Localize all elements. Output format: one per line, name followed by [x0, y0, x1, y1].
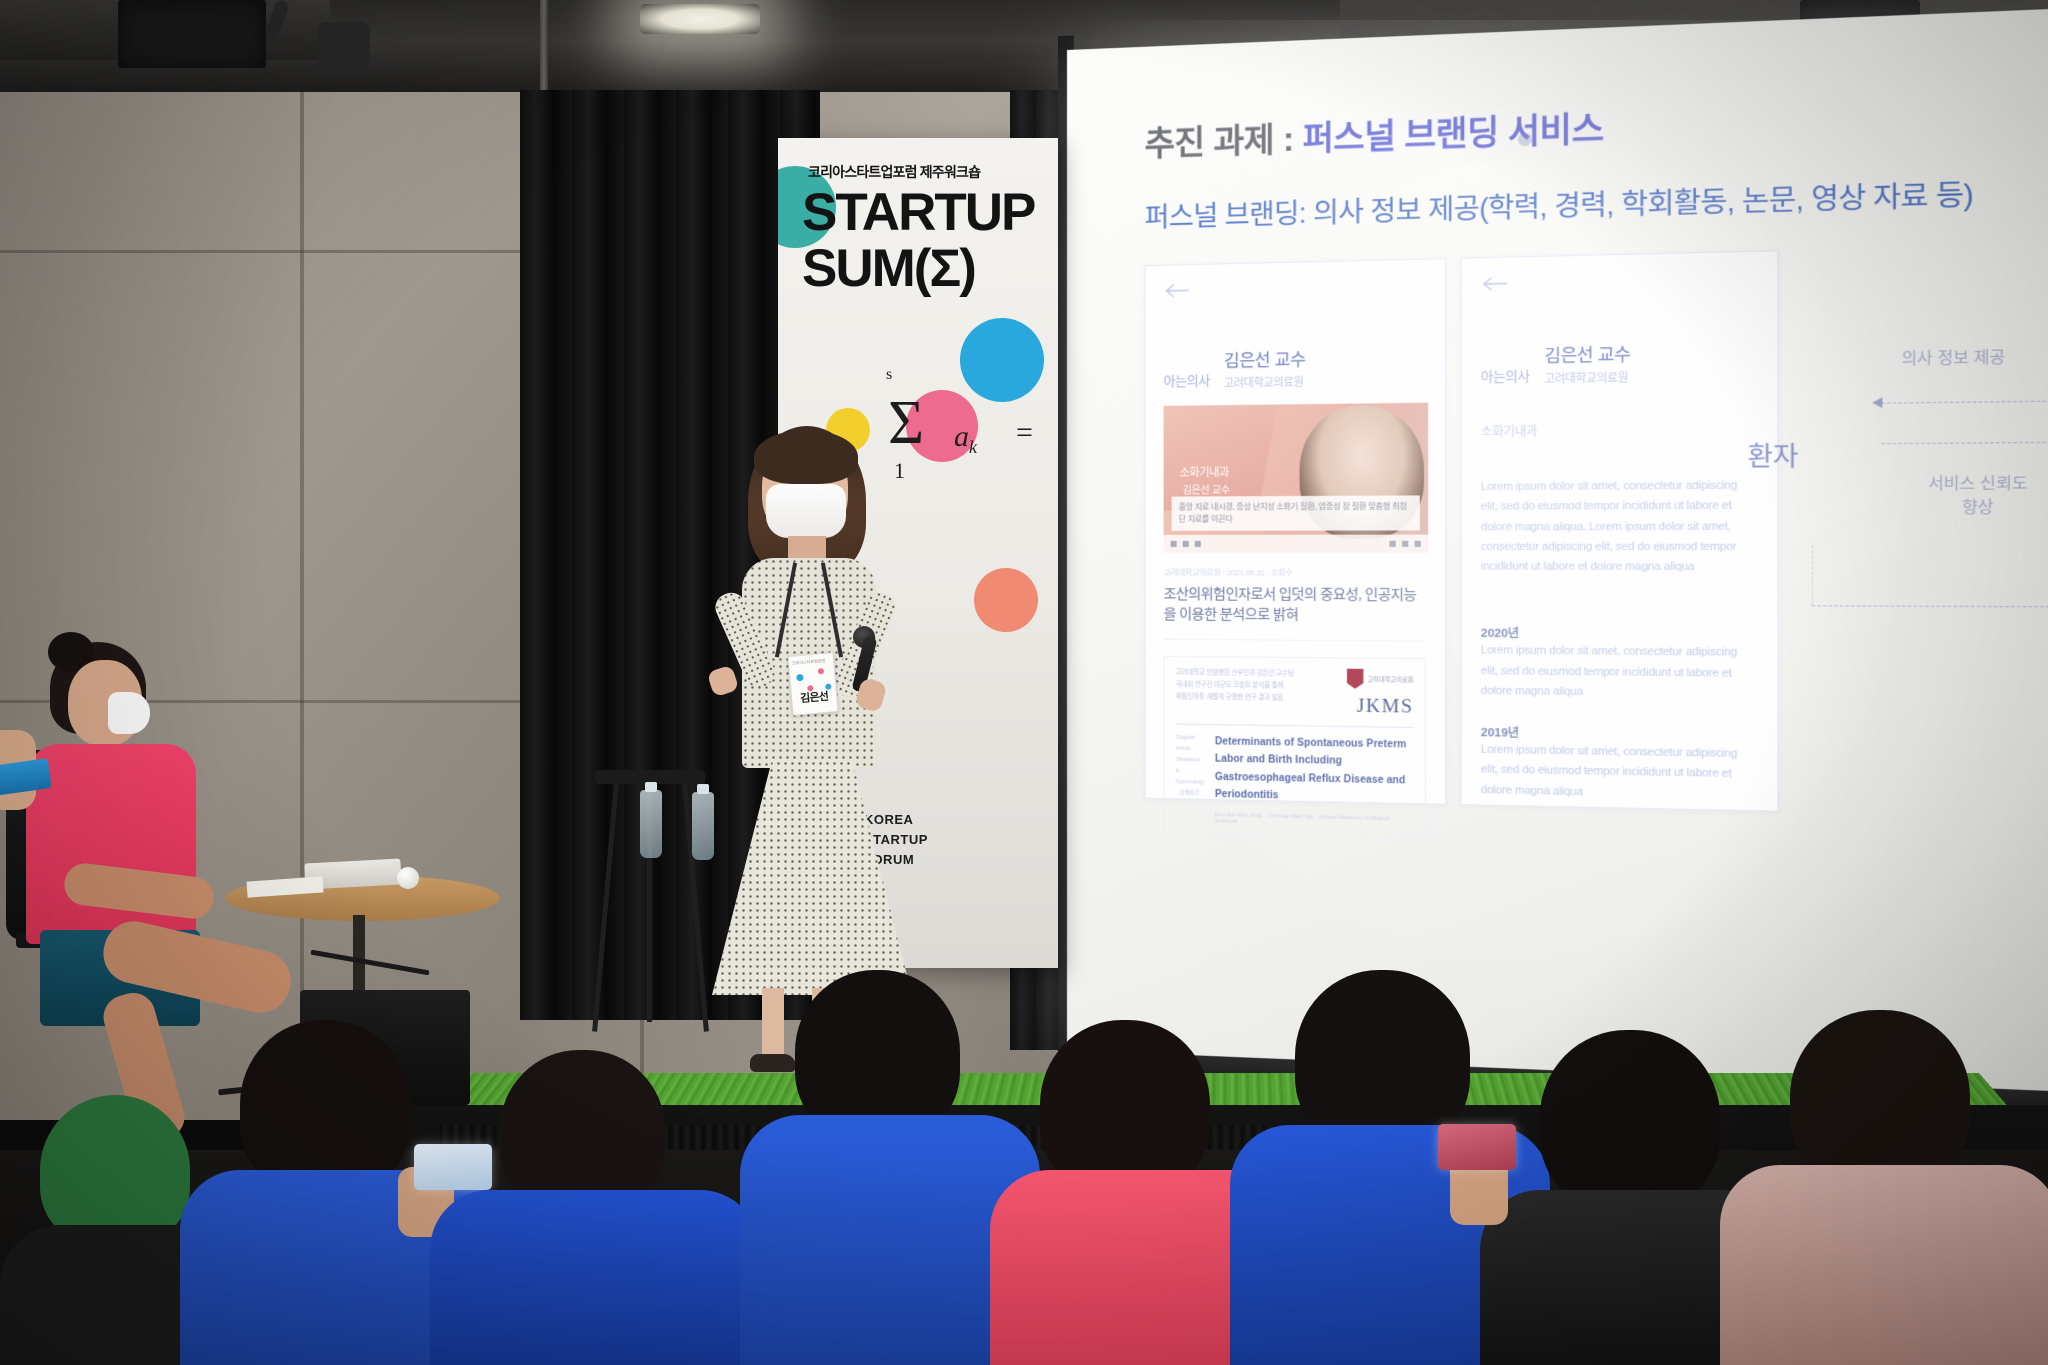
video-thumbnail[interactable]: 소화기내과 김은선교수 중앙 지료 내시경, 증상 난치성 소화기 질환, 염증… [1164, 403, 1429, 553]
banner-blob-blue [960, 318, 1044, 402]
info-block-text: Lorem ipsum dolor sit amet, consectetur … [1481, 476, 1758, 578]
divider [1176, 723, 1414, 727]
doctor-affiliation: 고려대학교의료원 [1224, 374, 1306, 391]
crest-label: 고려대학교의료원 [1368, 677, 1414, 684]
play-icon[interactable] [1171, 541, 1177, 547]
paper-korean-line: 위험인자를 새롭게 규명한 연구 결과 발표 [1176, 691, 1294, 705]
badge-header: 코리아스타트업포럼 [792, 658, 826, 667]
skirt [712, 760, 912, 995]
university-crest-icon [1347, 668, 1364, 689]
slide-title: 추진 과제 : 퍼스널 브랜딩 서비스 [1145, 83, 2048, 165]
ceiling-pipe [540, 0, 548, 92]
volume-icon[interactable] [1195, 541, 1201, 547]
back-arrow-icon [1481, 274, 1509, 293]
thumb-dept-label: 소화기내과 [1180, 464, 1229, 480]
photo-scene: 추진 과제 : 퍼스널 브랜딩 서비스 퍼스널 브랜딩: 의사 정보 제공(학력… [0, 0, 2048, 1365]
slide-content: 추진 과제 : 퍼스널 브랜딩 서비스 퍼스널 브랜딩: 의사 정보 제공(학력… [1067, 5, 2048, 1095]
info-block: 2020년 Lorem ipsum dolor sit amet, consec… [1481, 625, 1758, 705]
paper-sidebar-line: Obstetrics & Gynecology [1176, 754, 1205, 788]
phone-screen [1438, 1124, 1516, 1170]
settings-icon[interactable] [1390, 541, 1396, 547]
paper-header: 고려대학교 안암병원 산부인과 김은선 교수팀 국내외 연구진 대규모 코호트 … [1176, 667, 1414, 719]
formula-subscript: k [969, 437, 977, 457]
ceiling-light [640, 4, 760, 34]
foreground-audience-member [430, 1065, 760, 1365]
info-block-label: 2020년 [1481, 625, 1758, 644]
divider [1164, 638, 1427, 641]
projection-screen: 추진 과제 : 퍼스널 브랜딩 서비스 퍼스널 브랜딩: 의사 정보 제공(학력… [1067, 5, 2048, 1095]
thumb-name-suffix: 교수 [1212, 485, 1230, 496]
formula-superscript: s [886, 366, 892, 384]
card-header: 아는의사 김은선 교수 고려대학교의료원 [1164, 343, 1427, 392]
paper-sidebar: Original Article Obstetrics & Gynecology… [1176, 732, 1205, 823]
stool-leg [592, 782, 619, 1031]
journal-brand: 고려대학교의료원 JKMS [1347, 668, 1414, 718]
badge-name: 김은선 [792, 687, 837, 707]
paper-korean-line: 국내외 연구진 대규모 코호트 분석을 통해 [1176, 679, 1294, 692]
diagram-arrow-left [1881, 400, 2048, 404]
left-hand [707, 665, 740, 698]
info-block: Lorem ipsum dolor sit amet, consectetur … [1481, 476, 1758, 578]
info-block: 2019년 Lorem ipsum dolor sit amet, consec… [1481, 724, 1758, 806]
paper-authors: Eun Sun Kim, et al. · J Korean Med Sci. … [1215, 812, 1414, 829]
thumb-name-text: 김은선 [1183, 485, 1209, 496]
face-mask [766, 484, 846, 538]
banner-blob-coral [974, 568, 1038, 632]
slide-title-accent: 퍼스널 브랜딩 서비스 [1294, 109, 1604, 158]
info-block-text: Lorem ipsum dolor sit amet, consectetur … [1481, 641, 1758, 704]
banner-eyebrow: 코리아스타트업포럼 제주워크숍 [808, 162, 980, 182]
bottle-cap [645, 782, 657, 792]
playback-controls[interactable] [1171, 541, 1201, 547]
hair-front [754, 430, 858, 484]
paper-body: Original Article Obstetrics & Gynecology… [1176, 732, 1414, 828]
card-header: 아는의사 김은선 교수 고려대학교의료원 [1481, 337, 1758, 387]
news-meta: 고려대학교의료원 · 2021.05.31 · 조회수 [1164, 567, 1427, 579]
diagram-node-patient: 환자 [1748, 435, 1799, 474]
paper-sidebar-line: · 검색하기 [1176, 788, 1205, 800]
head [1540, 1030, 1720, 1210]
head [1790, 1010, 1970, 1190]
badge-dot [818, 668, 825, 675]
cap [40, 1095, 190, 1245]
torso [1720, 1165, 2048, 1365]
subtitles-icon[interactable] [1402, 541, 1408, 547]
video-controls-bar[interactable] [1164, 535, 1429, 554]
profile-card-right: 아는의사 김은선 교수 고려대학교의료원 소화기내과 Lorem ipsum d… [1461, 250, 1779, 811]
badge-dot [796, 674, 804, 682]
player-options[interactable] [1390, 541, 1421, 547]
diagram-arrow-right [1881, 441, 2048, 444]
white-ball [397, 867, 419, 889]
department-label: 소화기내과 [1481, 420, 1758, 440]
paper-preview: 고려대학교 안암병원 산부인과 김은선 교수팀 국내외 연구진 대규모 코호트 … [1164, 655, 1427, 840]
water-bottle [640, 790, 662, 858]
fullscreen-icon[interactable] [1415, 541, 1421, 547]
head [240, 1020, 410, 1195]
info-block-text: Lorem ipsum dolor sit amet, consectetur … [1481, 740, 1758, 805]
track-light [318, 22, 370, 74]
profile-card-left: 아는의사 김은선 교수 고려대학교의료원 소화기내과 김은선교수 중앙 지료 내… [1145, 258, 1446, 805]
slide-title-prefix: 추진 과제 : [1145, 120, 1294, 162]
paper-title: Determinants of Spontaneous Preterm Labo… [1215, 733, 1414, 808]
diagram-vertical-connector [1812, 546, 1813, 605]
formula-equals: = [1016, 416, 1033, 450]
journal-logo: JKMS [1347, 695, 1414, 718]
formula-term: ak [954, 420, 977, 458]
ceiling-speaker [118, 0, 266, 68]
face-mask [108, 692, 150, 734]
paper-korean-abstract: 고려대학교 안암병원 산부인과 김은선 교수팀 국내외 연구진 대규모 코호트 … [1176, 667, 1294, 705]
head [1295, 970, 1470, 1150]
paper-main: Determinants of Spontaneous Preterm Labo… [1215, 733, 1414, 829]
diagram-bottom-label: 서비스 신뢰도향상 [1904, 472, 2048, 519]
paper-sidebar-line: Original Article [1176, 732, 1205, 755]
banner-title-line1: STARTUP [802, 182, 1034, 243]
foreground-audience-member [1720, 1035, 2048, 1365]
service-flow-diagram: 환자 의사 정보 제공 서비스 신뢰도향상 의 장기 [1734, 331, 2048, 626]
doctor-affiliation: 고려대학교의료원 [1544, 369, 1630, 387]
brand-logo-label: 아는의사 [1164, 370, 1210, 392]
news-headline: 조산의위험인자로서 입덧의 중요성, 인공지능을 이용한 분석으로 밝혀 [1164, 583, 1427, 626]
slide-subtitle: 퍼스널 브랜딩: 의사 정보 제공(학력, 경력, 학회활동, 논문, 영상 자… [1145, 168, 2048, 235]
diagram-top-label: 의사 정보 제공 [1902, 345, 2006, 369]
thumb-name-label: 김은선교수 [1180, 480, 1230, 497]
brand-logo-label: 아는의사 [1481, 365, 1530, 387]
doctor-name: 김은선 교수 [1544, 340, 1630, 367]
thumb-caption: 중앙 지료 내시경, 증상 난치성 소화기 질환, 염증성 장 질환 맞춤형 최… [1172, 495, 1420, 530]
banner-title-line2: SUM(Σ) [802, 238, 975, 299]
formula-term-letter: a [954, 420, 969, 453]
head [1040, 1020, 1210, 1195]
diagram-bottom-connector [1812, 605, 2048, 607]
doctor-name: 김은선 교수 [1224, 345, 1306, 372]
back-arrow-icon [1164, 281, 1190, 300]
arrow-head-left-icon [1872, 397, 1882, 408]
torso-blue-shirt [430, 1190, 760, 1365]
paper-korean-line: 고려대학교 안암병원 산부인과 김은선 교수팀 [1176, 667, 1294, 680]
name-badge: 코리아스타트업포럼 김은선 [787, 652, 838, 716]
next-icon[interactable] [1183, 541, 1189, 547]
